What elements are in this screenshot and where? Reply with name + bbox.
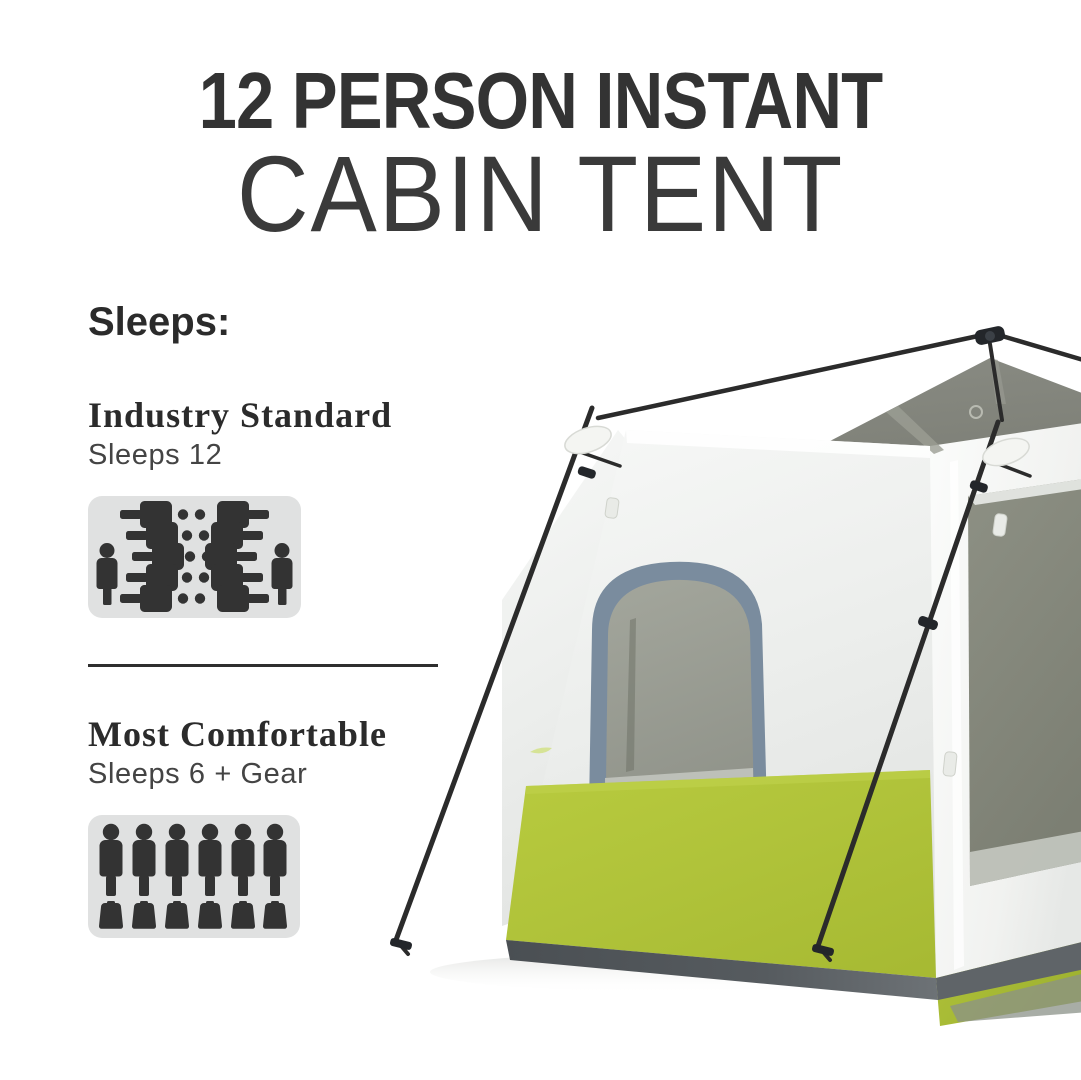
title-line-2: CABIN TENT <box>43 142 1038 246</box>
instant-cabin-tent-photo <box>330 300 1081 1080</box>
pole-hub-right <box>1002 336 1081 362</box>
infographic-page: 12 PERSON INSTANT CABIN TENT Sleeps: Ind… <box>0 0 1081 1080</box>
tent-side-window-mesh <box>968 478 1081 886</box>
title-line-1: 12 PERSON INSTANT <box>76 62 1006 140</box>
page-title: 12 PERSON INSTANT CABIN TENT <box>0 62 1081 246</box>
people-with-gear-icon <box>88 815 300 938</box>
pole-hub-connector <box>974 325 1006 346</box>
sleeping-bags-icon <box>88 496 301 618</box>
